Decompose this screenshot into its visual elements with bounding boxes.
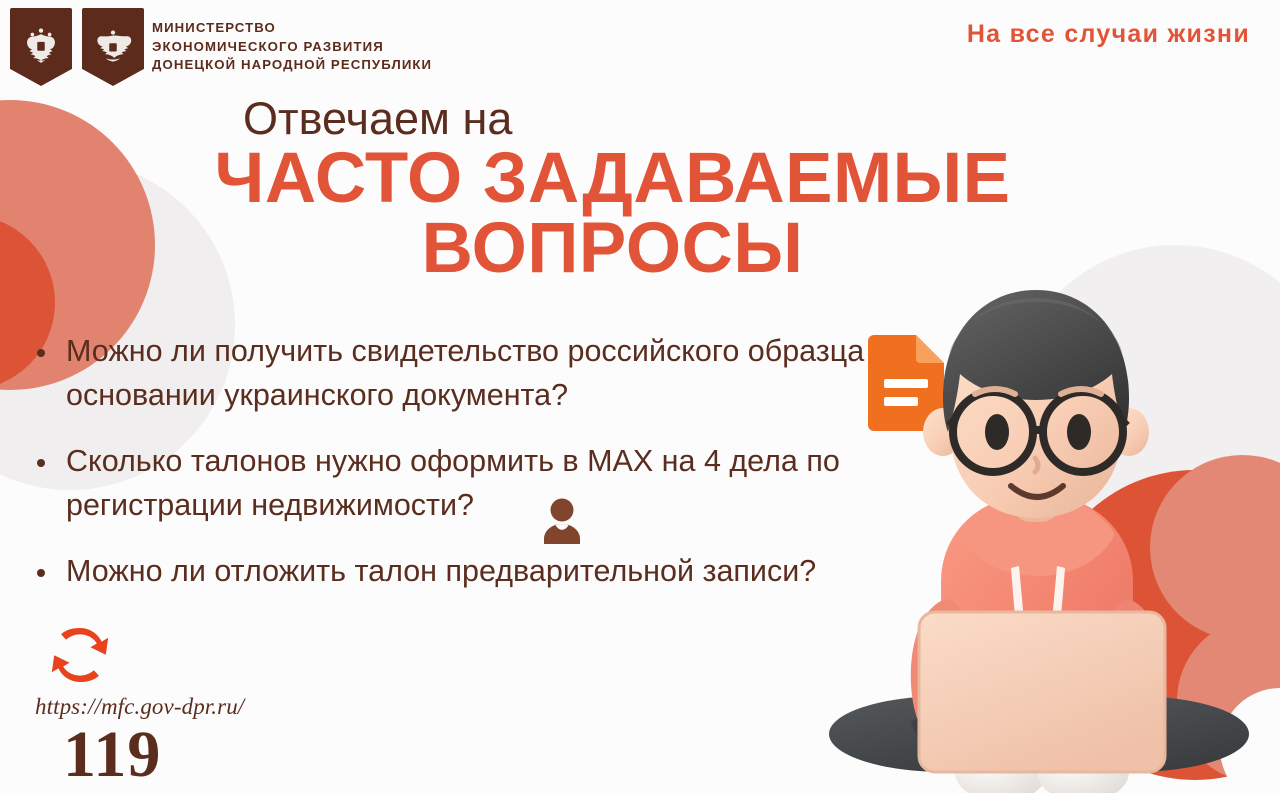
faq-item-2: Сколько талонов нужно оформить в МАХ на …: [28, 440, 948, 528]
dpr-coat-of-arms-icon: [82, 8, 144, 86]
page-title: ЧАСТО ЗАДАВАЕМЫЕ ВОПРОСЫ: [40, 144, 1185, 285]
faq-item-1: Можно ли получить свидетельство российск…: [28, 330, 948, 418]
headline-line-1: ЧАСТО ЗАДАВАЕМЫЕ: [214, 139, 1010, 218]
boy-with-laptop-illustration: [815, 282, 1255, 793]
faq-item-3: Можно ли отложить талон предварительной …: [28, 550, 948, 594]
russia-coat-of-arms-icon: [10, 8, 72, 86]
faq-item-1-text: Можно ли получить свидетельство российск…: [66, 334, 907, 412]
title-kicker: Отвечаем на: [243, 96, 512, 141]
faq-item-3-text: Можно ли отложить талон предварительной …: [66, 554, 816, 588]
hotline-number: 119: [63, 722, 295, 788]
contact-block: https://mfc.gov-dpr.ru/ 119: [35, 620, 295, 788]
ministry-line-1: МИНИСТЕРСТВО: [152, 19, 432, 38]
faq-item-2-text: Сколько талонов нужно оформить в МАХ на …: [66, 444, 840, 522]
tagline: На все случаи жизни: [967, 20, 1250, 49]
site-url[interactable]: https://mfc.gov-dpr.ru/: [35, 694, 295, 720]
poster-header: МИНИСТЕРСТВО ЭКОНОМИЧЕСКОГО РАЗВИТИЯ ДОН…: [0, 0, 1280, 88]
ministry-line-2: ЭКОНОМИЧЕСКОГО РАЗВИТИЯ: [152, 38, 432, 57]
person-icon: [540, 497, 584, 545]
headline-line-2: ВОПРОСЫ: [40, 214, 1185, 284]
ministry-line-3: ДОНЕЦКОЙ НАРОДНОЙ РЕСПУБЛИКИ: [152, 56, 432, 75]
crest-group: [10, 8, 144, 86]
refresh-arrows-icon[interactable]: [43, 620, 117, 690]
faq-poster: МИНИСТЕРСТВО ЭКОНОМИЧЕСКОГО РАЗВИТИЯ ДОН…: [0, 0, 1280, 793]
faq-list: Можно ли получить свидетельство российск…: [28, 330, 948, 616]
ministry-name: МИНИСТЕРСТВО ЭКОНОМИЧЕСКОГО РАЗВИТИЯ ДОН…: [152, 19, 432, 75]
